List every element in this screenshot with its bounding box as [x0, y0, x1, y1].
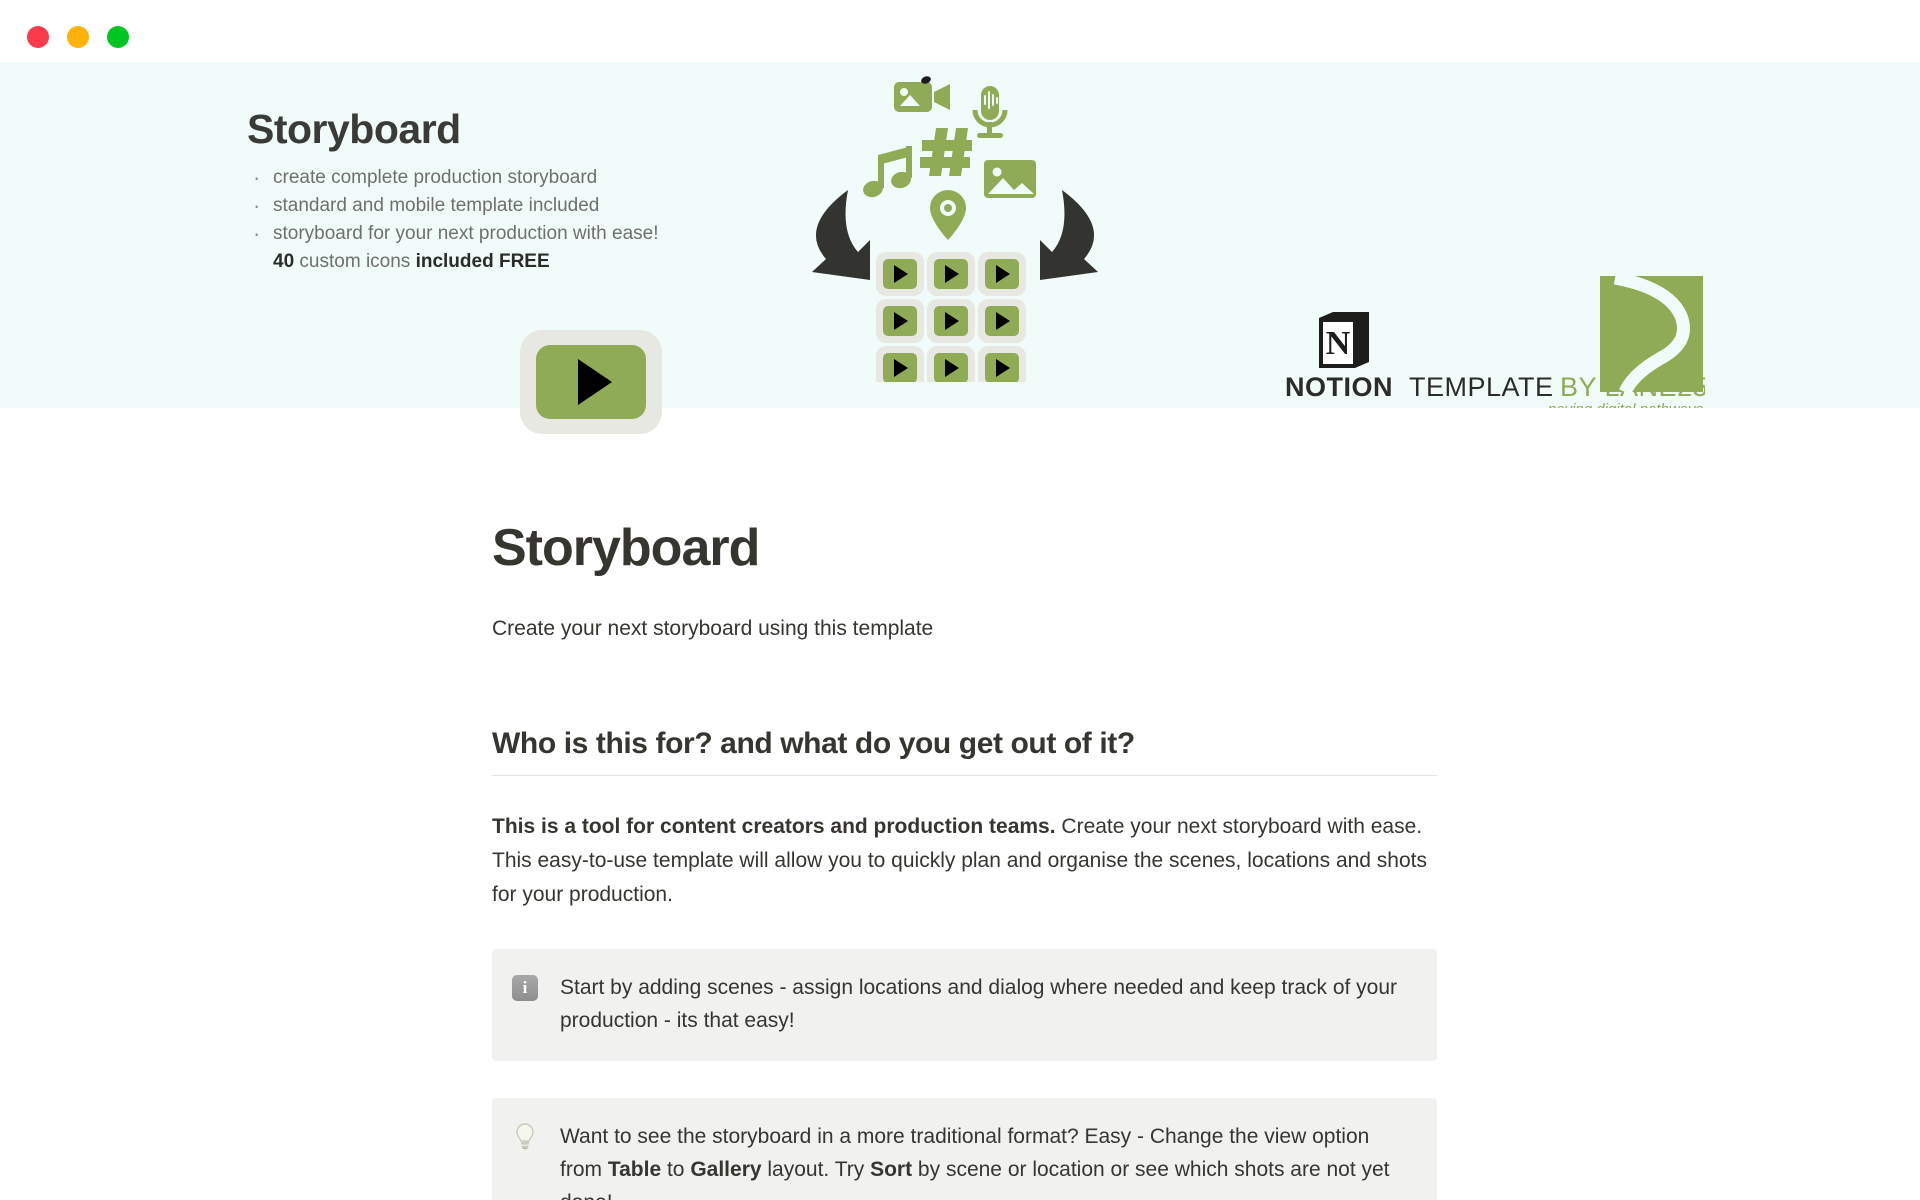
brand-tagline: paving digital pathways	[1547, 401, 1704, 408]
play-tile	[927, 299, 975, 343]
play-button-icon	[536, 345, 646, 419]
photo-icon	[984, 160, 1036, 198]
cover-bullet: standard and mobile template included	[247, 192, 807, 220]
callout-tip-run: to	[661, 1158, 690, 1181]
play-tile	[978, 252, 1026, 296]
play-triangle-icon	[578, 359, 612, 405]
callout-tip-emphasis: Sort	[870, 1158, 912, 1181]
brand-word-notion: NOTION	[1285, 372, 1393, 402]
maximize-window-button[interactable]	[107, 26, 129, 48]
cover-free-count: 40	[273, 251, 294, 272]
page-title[interactable]: Storyboard	[492, 520, 1442, 577]
storyboard-grid-illustration	[810, 62, 1120, 382]
cover-bullet: storyboard for your next production with…	[247, 220, 807, 248]
microphone-icon	[975, 86, 1005, 138]
left-arrow-icon	[812, 190, 870, 280]
location-pin-icon	[930, 190, 966, 240]
callout-tip[interactable]: Want to see the storyboard in a more tra…	[492, 1098, 1437, 1200]
cover-free-icons-line: 40 custom icons included FREE	[247, 251, 807, 273]
callout-tip-emphasis: Gallery	[690, 1158, 761, 1181]
play-tile	[927, 346, 975, 382]
svg-text:N: N	[1326, 325, 1351, 362]
cover-bullet: create complete production storyboard	[247, 164, 807, 192]
play-tile-grid	[876, 252, 1026, 382]
play-tile	[876, 252, 924, 296]
page-icon[interactable]	[520, 330, 662, 434]
brand-lockup: N NOTION TEMPLATE BY LANE25 paving digit…	[1285, 274, 1705, 408]
callout-tip-text: Want to see the storyboard in a more tra…	[560, 1120, 1409, 1200]
cover-free-middle: custom icons	[294, 251, 415, 272]
callout-tip-emphasis: Table	[608, 1158, 661, 1181]
section-heading[interactable]: Who is this for? and what do you get out…	[492, 727, 1442, 761]
music-note-icon	[861, 146, 912, 199]
callout-tip-run: layout. Try	[762, 1158, 871, 1181]
cover-bullet-list: create complete production storyboard st…	[247, 164, 807, 248]
callout-info-text: Start by adding scenes - assign location…	[560, 971, 1409, 1037]
video-camera-icon	[894, 82, 950, 112]
notion-logo-icon: N	[1319, 312, 1369, 368]
app-window: Storyboard create complete production st…	[0, 0, 1920, 1200]
cover-marketing-block: Storyboard create complete production st…	[247, 107, 807, 273]
page-content: Storyboard Create your next storyboard u…	[492, 520, 1442, 1200]
cover-free-emphasis: included FREE	[416, 251, 550, 272]
section-divider	[492, 775, 1437, 776]
brand-word-template: TEMPLATE	[1409, 372, 1554, 402]
window-titlebar	[0, 0, 1920, 62]
callout-info[interactable]: i Start by adding scenes - assign locati…	[492, 949, 1437, 1061]
intro-paragraph[interactable]: This is a tool for content creators and …	[492, 810, 1427, 912]
play-tile	[978, 346, 1026, 382]
cover-title: Storyboard	[247, 107, 807, 152]
info-icon: i	[512, 975, 538, 1001]
intro-lead: This is a tool for content creators and …	[492, 815, 1056, 838]
play-tile	[927, 252, 975, 296]
pathway-glyph	[1600, 276, 1703, 392]
lightbulb-icon	[512, 1122, 538, 1152]
page-cover[interactable]: Storyboard create complete production st…	[0, 62, 1920, 408]
minimize-window-button[interactable]	[67, 26, 89, 48]
page-subtitle[interactable]: Create your next storyboard using this t…	[492, 613, 1442, 645]
play-tile	[876, 346, 924, 382]
close-window-button[interactable]	[27, 26, 49, 48]
traffic-lights	[27, 26, 129, 48]
play-tile	[876, 299, 924, 343]
hashtag-icon	[920, 128, 972, 176]
right-arrow-icon	[1040, 190, 1098, 280]
play-tile	[978, 299, 1026, 343]
